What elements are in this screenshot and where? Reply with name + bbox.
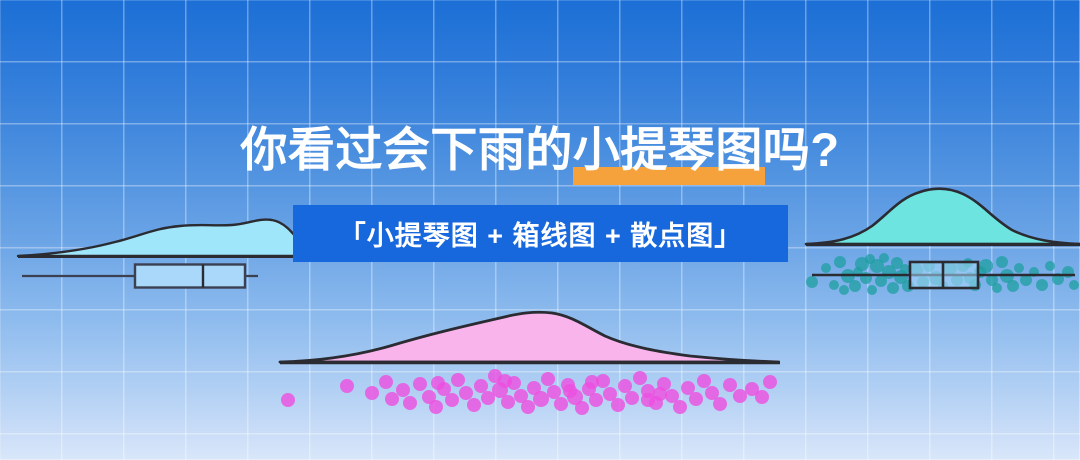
banner-root: 你看过会下雨的小提琴图吗? 「小提琴图 + 箱线图 + 散点图」 bbox=[0, 0, 1080, 460]
title-text: 你看过会下雨的小提琴图吗? bbox=[240, 126, 839, 173]
page-title: 你看过会下雨的小提琴图吗? bbox=[0, 126, 1080, 173]
text-layer: 你看过会下雨的小提琴图吗? 「小提琴图 + 箱线图 + 散点图」 bbox=[0, 0, 1080, 460]
subtitle-text: 「小提琴图 + 箱线图 + 散点图」 bbox=[293, 205, 788, 262]
